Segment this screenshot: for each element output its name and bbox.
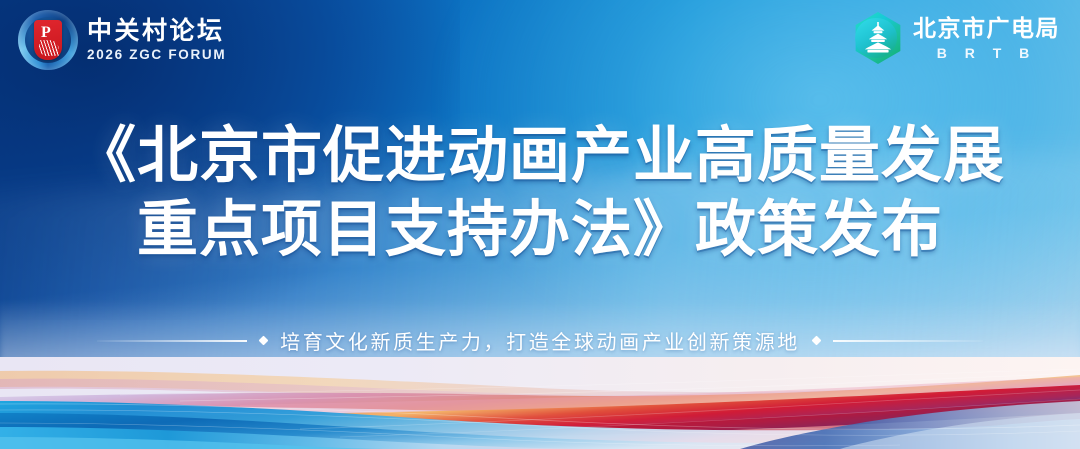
zgc-logo-text: 中关村论坛 2026 ZGC FORUM — [87, 19, 226, 62]
zgc-forum-emblem-icon: P — [18, 10, 78, 70]
page-title: 《北京市促进动画产业高质量发展 重点项目支持办法》政策发布 — [0, 118, 1080, 266]
diamond-bullet-right-icon — [811, 336, 821, 346]
flowing-ribbon-artwork — [0, 357, 1080, 449]
brtb-pagoda-emblem-icon — [852, 12, 904, 64]
pagoda-icon — [861, 21, 895, 56]
zgc-monogram: P — [41, 25, 51, 41]
zgc-forum-logo[interactable]: P 中关村论坛 2026 ZGC FORUM — [18, 10, 226, 70]
zgc-red-tablet-icon: P — [34, 20, 62, 60]
zgc-swoosh-icon — [39, 40, 59, 56]
zgc-name-cn: 中关村论坛 — [87, 19, 226, 44]
brtb-logo-text: 北京市广电局 B R T B — [913, 17, 1060, 60]
subtitle-text: 培育文化新质生产力，打造全球动画产业创新策源地 — [280, 326, 800, 355]
ribbon-svg — [0, 357, 1080, 449]
zgc-name-en: 2026 ZGC FORUM — [87, 48, 226, 62]
brtb-name-cn: 北京市广电局 — [913, 17, 1060, 40]
brtb-name-en: B R T B — [913, 46, 1060, 60]
brtb-logo[interactable]: 北京市广电局 B R T B — [852, 12, 1060, 64]
decorative-rule-right — [833, 340, 983, 342]
diamond-bullet-left-icon — [259, 336, 269, 346]
subtitle-row: 培育文化新质生产力，打造全球动画产业创新策源地 — [0, 326, 1080, 355]
decorative-rule-left — [97, 340, 247, 342]
title-line-1: 《北京市促进动画产业高质量发展 — [0, 118, 1080, 192]
title-line-2: 重点项目支持办法》政策发布 — [0, 192, 1080, 266]
policy-announcement-banner: P 中关村论坛 2026 ZGC FORUM — [0, 0, 1080, 449]
